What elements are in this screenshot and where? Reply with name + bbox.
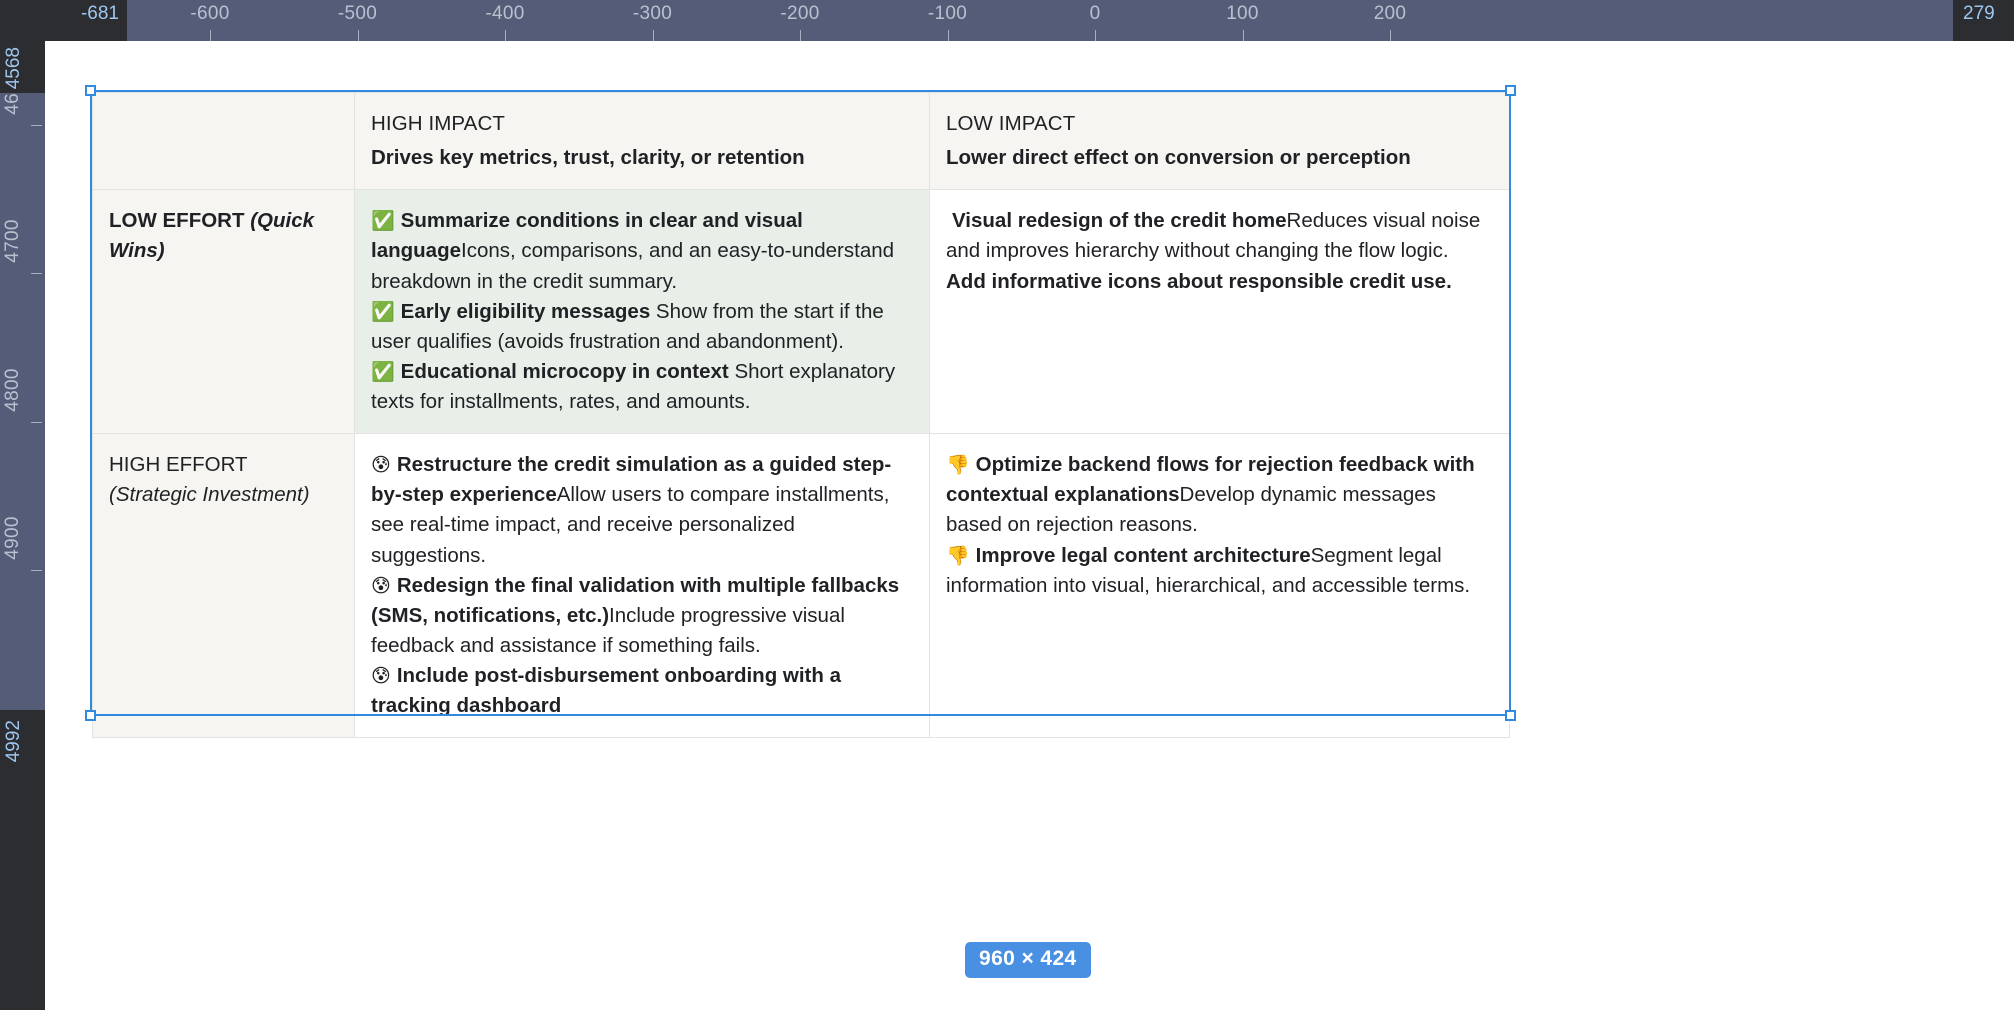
cell-high-effort-low-impact[interactable]: 👎Optimize backend flows for rejection fe… xyxy=(930,434,1510,738)
horizontal-ruler-tick-label: 0 xyxy=(1090,3,1101,25)
list-item: ✅Early eligibility messages Show from th… xyxy=(371,297,911,357)
selection-size-badge: 960 × 424 xyxy=(965,942,1091,978)
horizontal-ruler-tick-label: 100 xyxy=(1226,3,1259,25)
ruler-corner[interactable] xyxy=(0,0,45,41)
horizontal-ruler-end-label: 279 xyxy=(1963,3,1995,25)
vertical-ruler-tick-mark xyxy=(31,422,42,423)
matrix-row-low-effort: LOW EFFORT (Quick Wins) ✅Summarize condi… xyxy=(93,190,1510,434)
white-check-mark-icon: ✅ xyxy=(371,301,395,323)
item-title: Early eligibility messages xyxy=(401,300,656,323)
matrix-row-high-effort: HIGH EFFORT (Strategic Investment) 😰Rest… xyxy=(93,434,1510,738)
white-check-mark-icon: ✅ xyxy=(371,361,395,383)
list-item: 👎Improve legal content architectureSegme… xyxy=(946,541,1491,601)
list-item: Add informative icons about responsible … xyxy=(946,267,1491,297)
cell-high-effort-high-impact[interactable]: 😰Restructure the credit simulation as a … xyxy=(355,434,930,738)
column-header-low-impact-sub: Lower direct effect on conversion or per… xyxy=(946,143,1491,173)
vertical-ruler-end-badge: 4992 xyxy=(0,710,45,1010)
horizontal-ruler-tick-mark xyxy=(1095,30,1096,41)
horizontal-ruler-tick-label: -400 xyxy=(485,3,524,25)
column-header-high-impact-kicker: HIGH IMPACT xyxy=(371,109,911,139)
horizontal-ruler-tick-mark xyxy=(505,30,506,41)
horizontal-ruler-tick-mark xyxy=(210,30,211,41)
item-title: Educational microcopy in context xyxy=(401,360,735,383)
horizontal-ruler-tick-label: -600 xyxy=(190,3,229,25)
item-title: Visual redesign of the credit home xyxy=(952,209,1287,232)
horizontal-ruler-tick-mark xyxy=(1390,30,1391,41)
design-canvas-app: HIGH IMPACT Drives key metrics, trust, c… xyxy=(0,0,2014,1010)
column-header-high-impact: HIGH IMPACT Drives key metrics, trust, c… xyxy=(355,93,930,190)
horizontal-ruler[interactable]: -600-500-400-300-200-1000100200 xyxy=(0,0,2014,41)
thumbs-down-icon: 👎 xyxy=(946,454,970,476)
cell-low-effort-high-impact[interactable]: ✅Summarize conditions in clear and visua… xyxy=(355,190,930,434)
horizontal-ruler-tick-label: 200 xyxy=(1374,3,1407,25)
vertical-ruler-tick-label: 4900 xyxy=(2,516,24,559)
item-title: Improve legal content architecture xyxy=(976,544,1311,567)
list-item: 👎Optimize backend flows for rejection fe… xyxy=(946,450,1491,540)
row-label-high-effort-note: (Strategic Investment) xyxy=(109,483,310,506)
list-item: ✅Educational microcopy in context Short … xyxy=(371,357,911,417)
row-label-low-effort: LOW EFFORT (Quick Wins) xyxy=(93,190,355,434)
item-title: Add informative icons about responsible … xyxy=(946,270,1452,293)
horizontal-ruler-start-label: -681 xyxy=(81,3,119,25)
anxious-face-with-sweat-icon: 😰 xyxy=(371,575,391,597)
list-item: ✅Summarize conditions in clear and visua… xyxy=(371,206,911,296)
horizontal-ruler-tick-label: -200 xyxy=(780,3,819,25)
column-header-low-impact: LOW IMPACT Lower direct effect on conver… xyxy=(930,93,1510,190)
vertical-ruler-tick-mark xyxy=(31,125,42,126)
list-item: 😰Include post-disbursement onboarding wi… xyxy=(371,661,911,721)
horizontal-ruler-tick-label: -300 xyxy=(633,3,672,25)
horizontal-ruler-tick-mark xyxy=(800,30,801,41)
list-item: Visual redesign of the credit homeReduce… xyxy=(946,206,1491,266)
horizontal-ruler-tick-mark xyxy=(358,30,359,41)
white-check-mark-icon: ✅ xyxy=(371,210,395,232)
vertical-ruler-tick-mark xyxy=(31,273,42,274)
vertical-ruler-tick-mark xyxy=(31,570,42,571)
anxious-face-with-sweat-icon: 😰 xyxy=(371,665,391,687)
horizontal-ruler-tick-mark xyxy=(653,30,654,41)
row-label-high-effort-main: HIGH EFFORT xyxy=(109,453,248,476)
column-header-low-impact-kicker: LOW IMPACT xyxy=(946,109,1491,139)
list-item: 😰Redesign the final validation with mult… xyxy=(371,571,911,661)
row-label-high-effort: HIGH EFFORT (Strategic Investment) xyxy=(93,434,355,738)
anxious-face-with-sweat-icon: 😰 xyxy=(371,454,391,476)
vertical-ruler-tick-label: 4800 xyxy=(2,368,24,411)
column-header-high-impact-sub: Drives key metrics, trust, clarity, or r… xyxy=(371,143,911,173)
item-title: Include post-disbursement onboarding wit… xyxy=(371,664,841,717)
horizontal-ruler-end-badge: 279 xyxy=(1953,0,2014,41)
cell-low-effort-low-impact[interactable]: Visual redesign of the credit homeReduce… xyxy=(930,190,1510,434)
horizontal-ruler-tick-label: -100 xyxy=(928,3,967,25)
thumbs-down-icon: 👎 xyxy=(946,545,970,567)
vertical-ruler-end-label: 4992 xyxy=(3,720,25,762)
vertical-ruler-start-label: 4568 xyxy=(3,47,25,89)
row-label-low-effort-main: LOW EFFORT xyxy=(109,209,245,232)
horizontal-ruler-tick-label: -500 xyxy=(338,3,377,25)
impact-effort-matrix: HIGH IMPACT Drives key metrics, trust, c… xyxy=(92,92,1510,738)
horizontal-ruler-tick-mark xyxy=(948,30,949,41)
matrix-corner-cell xyxy=(93,93,355,190)
list-item: 😰Restructure the credit simulation as a … xyxy=(371,450,911,571)
vertical-ruler-tick-label: 4700 xyxy=(2,220,24,263)
vertical-ruler-start-badge: 4568 xyxy=(0,41,45,93)
horizontal-ruler-tick-mark xyxy=(1243,30,1244,41)
horizontal-ruler-start-badge: -681 xyxy=(45,0,127,41)
matrix-header-row: HIGH IMPACT Drives key metrics, trust, c… xyxy=(93,93,1510,190)
